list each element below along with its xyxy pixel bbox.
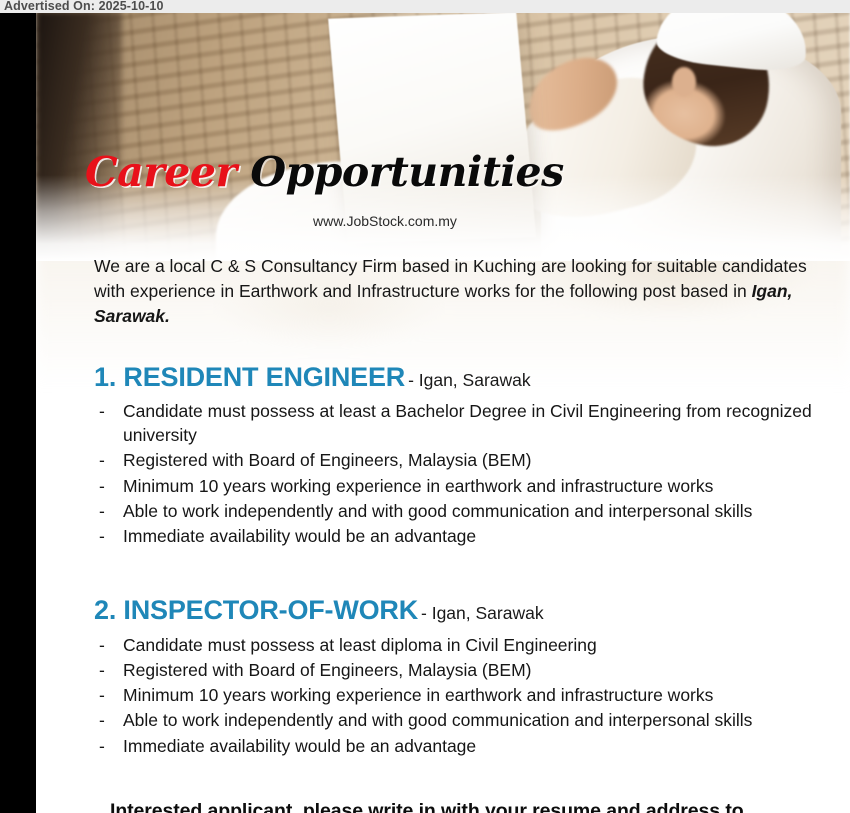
- job-1-requirements: -Candidate must possess at least a Bache…: [94, 399, 840, 548]
- requirement-text: Able to work independently and with good…: [123, 710, 752, 730]
- job-advertisement-page: Advertised On: 2025-10-10 Career Opportu…: [0, 0, 850, 813]
- job-2-title: 2. INSPECTOR-OF-WORK: [94, 595, 418, 625]
- list-item: -Registered with Board of Engineers, Mal…: [94, 658, 840, 682]
- list-item: -Minimum 10 years working experience in …: [94, 474, 840, 498]
- career-opportunities-title: Career Opportunities: [85, 152, 564, 193]
- bullet-dash-icon: -: [99, 658, 105, 682]
- left-black-bar: [0, 13, 36, 813]
- job-listing-1: 1. RESIDENT ENGINEER- Igan, Sarawak -Can…: [36, 363, 850, 549]
- headline-word-opportunities: [237, 148, 251, 196]
- list-item: -Minimum 10 years working experience in …: [94, 683, 840, 707]
- contact-section: Interested applicant, please write in wi…: [36, 800, 850, 813]
- headline-word-opportunities-text: Opportunities: [250, 148, 563, 196]
- requirement-text: Immediate availability would be an advan…: [123, 736, 476, 756]
- job-1-title: 1. RESIDENT ENGINEER: [94, 362, 405, 392]
- bullet-dash-icon: -: [99, 708, 105, 732]
- job-1-title-row: 1. RESIDENT ENGINEER- Igan, Sarawak: [94, 363, 840, 391]
- bullet-dash-icon: -: [99, 474, 105, 498]
- list-item: -Able to work independently and with goo…: [94, 708, 840, 732]
- list-item: -Immediate availability would be an adva…: [94, 524, 840, 548]
- list-item: -Candidate must possess at least a Bache…: [94, 399, 840, 447]
- bullet-dash-icon: -: [99, 399, 105, 423]
- bullet-dash-icon: -: [99, 683, 105, 707]
- top-strip: Advertised On: 2025-10-10: [0, 0, 850, 13]
- list-item: -Candidate must possess at least diploma…: [94, 633, 840, 657]
- job-1-location: - Igan, Sarawak: [408, 370, 531, 390]
- job-2-location: - Igan, Sarawak: [421, 603, 544, 623]
- requirement-text: Minimum 10 years working experience in e…: [123, 476, 713, 496]
- job-2-requirements: -Candidate must possess at least diploma…: [94, 633, 840, 758]
- worker-ear: [672, 67, 696, 97]
- headline-word-career: Career: [85, 148, 237, 196]
- apply-instruction: Interested applicant, please write in wi…: [110, 800, 840, 813]
- site-url-label: www.JobStock.com.my: [313, 213, 457, 229]
- job-2-title-row: 2. INSPECTOR-OF-WORK- Igan, Sarawak: [94, 596, 840, 624]
- list-item: -Immediate availability would be an adva…: [94, 734, 840, 758]
- requirement-text: Candidate must possess at least diploma …: [123, 635, 597, 655]
- advertisement-content: We are a local C & S Consultancy Firm ba…: [36, 250, 850, 813]
- bullet-dash-icon: -: [99, 633, 105, 657]
- bullet-dash-icon: -: [99, 734, 105, 758]
- requirement-text: Candidate must possess at least a Bachel…: [123, 401, 812, 445]
- requirement-text: Immediate availability would be an advan…: [123, 526, 476, 546]
- bullet-dash-icon: -: [99, 524, 105, 548]
- intro-text: We are a local C & S Consultancy Firm ba…: [94, 256, 807, 301]
- intro-paragraph: We are a local C & S Consultancy Firm ba…: [36, 250, 850, 329]
- requirement-text: Minimum 10 years working experience in e…: [123, 685, 713, 705]
- list-item: - Able to work independently and with go…: [94, 499, 840, 523]
- requirement-text: Registered with Board of Engineers, Mala…: [123, 660, 532, 680]
- bullet-dash-icon: -: [99, 448, 105, 472]
- bullet-dash-icon: -: [99, 499, 105, 523]
- requirement-text: Able to work independently and with good…: [123, 501, 752, 521]
- headline-group: Career Opportunities: [85, 152, 564, 193]
- advertised-on-label: Advertised On: 2025-10-10: [4, 0, 164, 13]
- job-listing-2: 2. INSPECTOR-OF-WORK- Igan, Sarawak -Can…: [36, 596, 850, 758]
- list-item: -Registered with Board of Engineers, Mal…: [94, 448, 840, 472]
- requirement-text: Registered with Board of Engineers, Mala…: [123, 450, 532, 470]
